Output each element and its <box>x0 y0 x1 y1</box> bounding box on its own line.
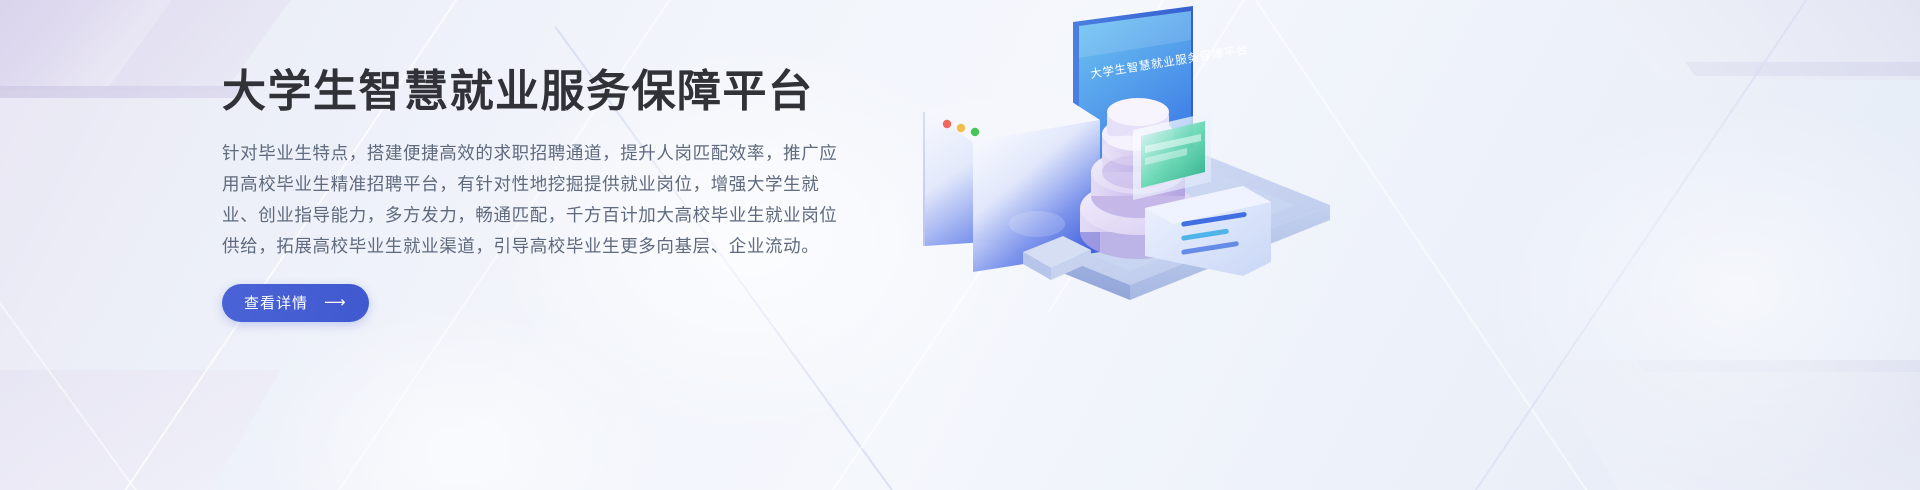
banner-description: 针对毕业生特点，搭建便捷高效的求职招聘通道，提升人岗匹配效率，推广应 用高校毕业… <box>222 138 848 262</box>
decorative-slab-right-top <box>1559 0 1920 80</box>
view-details-label: 查看详情 <box>244 292 308 313</box>
window-dot-close <box>943 120 951 128</box>
hero-illustration: 大学生智慧就业服务保障平台 <box>895 0 1415 300</box>
arrow-right-icon: ⟶ <box>324 295 347 310</box>
banner-title: 大学生智慧就业服务保障平台 <box>222 66 862 118</box>
decorative-slab-left-secondary <box>0 0 194 90</box>
decorative-slab-left-lower <box>0 370 281 490</box>
description-line: 供给，拓展高校毕业生就业渠道，引导高校毕业生更多向基层、企业流动。 <box>222 231 848 262</box>
description-line: 针对毕业生特点，搭建便捷高效的求职招聘通道，提升人岗匹配效率，推广应 <box>222 138 848 169</box>
decorative-diagonal-line <box>1418 0 1844 490</box>
decorative-slab-right-bottom <box>1544 360 1920 490</box>
decorative-slab-right-bottom-edge <box>1637 360 1920 372</box>
window-dot-maximize <box>971 128 979 136</box>
banner-content: 大学生智慧就业服务保障平台 针对毕业生特点，搭建便捷高效的求职招聘通道，提升人岗… <box>222 66 862 322</box>
decorative-slab-right-top-edge <box>1685 62 1920 76</box>
decorative-glow <box>1480 90 1920 490</box>
description-line: 业、创业指导能力，多方发力，畅通匹配，千方百计加大高校毕业生就业岗位 <box>222 200 848 231</box>
decorative-glow <box>250 300 670 490</box>
view-details-button[interactable]: 查看详情 ⟶ <box>222 284 369 322</box>
hero-banner: 大学生智慧就业服务保障平台 针对毕业生特点，搭建便捷高效的求职招聘通道，提升人岗… <box>0 0 1920 490</box>
description-line: 用高校毕业生精准招聘平台，有针对性地挖掘提供就业岗位，增强大学生就 <box>222 169 848 200</box>
decorative-slab-left-edge <box>0 86 254 98</box>
window-dot-minimize <box>957 124 965 132</box>
